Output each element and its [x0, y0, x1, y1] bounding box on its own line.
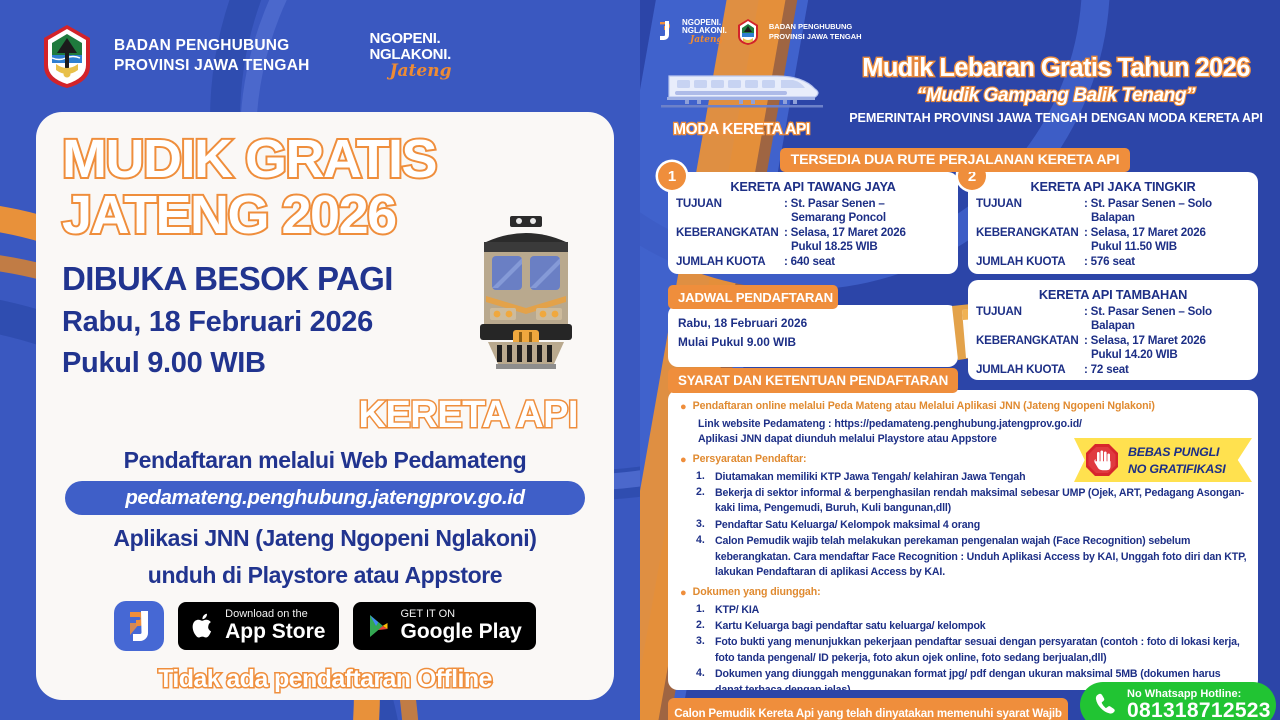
stop-hand-icon — [1084, 442, 1120, 478]
terms-bullet-2-text: Persyaratan Pendaftar: — [693, 452, 807, 469]
route-1-departure-row: KEBERANGKATAN : Selasa, 17 Maret 2026 Pu… — [668, 226, 958, 255]
requirement-4-text: Calon Pemudik wajib telah melakukan pere… — [715, 534, 1248, 580]
jawa-tengah-emblem-icon — [36, 22, 98, 90]
requirement-item-2: 2. Bekerja di sektor informal & berpengh… — [680, 486, 1248, 517]
jawa-tengah-emblem-mini-icon — [735, 18, 761, 46]
mini-ngopeni-line2: NGLAKONI. — [682, 27, 727, 35]
right-header: NGOPENI. NGLAKONI. Jateng BADAN PENGHUBU… — [640, 8, 1280, 138]
google-play-badge-large: Google Play — [400, 621, 521, 643]
mini-org-name: BADAN PENGHUBUNG PROVINSI JAWA TENGAH — [769, 22, 862, 42]
route-card-2: 2 KERETA API JAKA TINGKIR TUJUAN : St. P… — [968, 172, 1258, 274]
org-name-line1: BADAN PENGHUBUNG — [114, 36, 309, 56]
requirement-item-3: 3. Pendaftar Satu Keluarga/ Kelompok mak… — [680, 518, 1248, 533]
bullet-dot-icon: ● — [680, 585, 687, 602]
app-store-badge-large: App Store — [225, 621, 325, 643]
terms-card: ● Pendaftaran online melalui Peda Mateng… — [668, 390, 1258, 690]
google-play-badge-small: GET IT ON — [400, 609, 521, 620]
route-3-departure-value-line1: : Selasa, 17 Maret 2026 — [1084, 334, 1206, 347]
org-name-line2: PROVINSI JAWA TENGAH — [114, 56, 309, 76]
document-1-index: 1. — [696, 603, 710, 618]
requirement-3-index: 3. — [696, 518, 710, 533]
app-line-1: Aplikasi JNN (Jateng Ngopeni Nglakoni) — [62, 525, 588, 552]
app-store-badge[interactable]: Download on the App Store — [178, 602, 339, 650]
route-3-destination-row: TUJUAN : St. Pasar Senen – Solo Balapan — [968, 305, 1258, 334]
offline-registration-note: Tidak ada pendaftaran Offline — [36, 665, 614, 694]
route-2-destination-key: TUJUAN — [976, 197, 1084, 226]
google-play-icon — [367, 613, 391, 639]
route-3-departure-value-line2: Pukul 14.20 WIB — [1084, 348, 1250, 362]
right-title-subtitle: PEMERINTAH PROVINSI JAWA TENGAH DENGAN M… — [840, 111, 1272, 125]
route-2-departure-value-line1: : Selasa, 17 Maret 2026 — [1084, 226, 1206, 239]
left-main-card: MUDIK GRATIS JATENG 2026 — [36, 112, 614, 700]
bottom-notice-bar: Calon Pemudik Kereta Api yang telah diny… — [668, 698, 1068, 720]
route-2-quota-value: : 576 seat — [1084, 255, 1250, 269]
jadwal-card: Rabu, 18 Februari 2026 Mulai Pukul 9.00 … — [668, 305, 958, 367]
right-title-main: Mudik Lebaran Gratis Tahun 2026 — [840, 54, 1272, 83]
route-1-destination-value: : St. Pasar Senen – Semarang Poncol — [784, 197, 950, 226]
banner-routes: TERSEDIA DUA RUTE PERJALANAN KERETA API — [780, 148, 1130, 172]
route-3-quota-value: : 72 seat — [1084, 363, 1250, 377]
moda-kereta-block: MODA KERETA API — [654, 66, 829, 139]
org-name: BADAN PENGHUBUNG PROVINSI JAWA TENGAH — [114, 36, 309, 76]
bullet-dot-icon: ● — [680, 399, 687, 416]
ngopeni-line1: NGOPENI. — [369, 31, 465, 46]
terms-bullet-1: ● Pendaftaran online melalui Peda Mateng… — [680, 399, 1248, 416]
document-4-index: 4. — [696, 667, 710, 690]
app-store-badge-small: Download on the — [225, 609, 325, 620]
document-item-3: 3. Foto bukti yang menunjukkan pekerjaan… — [680, 635, 1248, 666]
anti-bribery-text: BEBAS PUNGLI NO GRATIFIKASI — [1128, 444, 1225, 477]
mini-ngopeni-logo: NGOPENI. NGLAKONI. Jateng — [682, 19, 727, 46]
phone-icon — [1090, 690, 1120, 720]
document-item-2: 2. Kartu Keluarga bagi pendaftar satu ke… — [680, 619, 1248, 634]
whatsapp-number: 081318712523 — [1127, 700, 1271, 720]
whatsapp-text-block: No Whatsapp Hotline: 081318712523 — [1127, 688, 1271, 720]
store-badges-row: Download on the App Store — [62, 601, 588, 651]
route-1-quota-key: JUMLAH KUOTA — [676, 255, 784, 269]
route-1-departure-value: : Selasa, 17 Maret 2026 Pukul 18.25 WIB — [784, 226, 950, 255]
ngopeni-line3: Jateng — [369, 61, 465, 81]
right-header-logos: NGOPENI. NGLAKONI. Jateng BADAN PENGHUBU… — [656, 18, 862, 46]
route-2-destination-value: : St. Pasar Senen – Solo Balapan — [1084, 197, 1250, 226]
mini-org-line1: BADAN PENGHUBUNG — [769, 22, 862, 32]
document-3-index: 3. — [696, 635, 710, 666]
route-1-destination-value-line2: Semarang Poncol — [784, 211, 950, 225]
route-3-quota-row: JUMLAH KUOTA : 72 seat — [968, 363, 1258, 377]
route-2-destination-row: TUJUAN : St. Pasar Senen – Solo Balapan — [968, 197, 1258, 226]
left-header: BADAN PENGHUBUNG PROVINSI JAWA TENGAH NG… — [0, 0, 640, 112]
route-card-1: 1 KERETA API TAWANG JAYA TUJUAN : St. Pa… — [668, 172, 958, 274]
side-train-illustration — [661, 66, 823, 114]
route-2-destination-value-line2: Balapan — [1084, 211, 1250, 225]
right-title-tagline: “Mudik Gampang Balik Tenang” — [840, 85, 1272, 107]
route-2-title: KERETA API JAKA TINGKIR — [968, 172, 1258, 197]
route-1-destination-value-line1: : St. Pasar Senen – — [784, 197, 885, 210]
anti-bribery-line2: NO GRATIFIKASI — [1128, 461, 1225, 478]
requirement-2-index: 2. — [696, 486, 710, 517]
registration-web-line: Pendaftaran melalui Web Pedamateng — [62, 447, 588, 474]
route-1-quota-row: JUMLAH KUOTA : 640 seat — [668, 255, 958, 269]
document-item-1: 1. KTP/ KIA — [680, 603, 1248, 618]
apple-icon — [192, 612, 216, 640]
route-3-destination-value-line1: : St. Pasar Senen – Solo — [1084, 305, 1212, 318]
route-3-destination-value: : St. Pasar Senen – Solo Balapan — [1084, 305, 1250, 334]
terms-bullet-3-text: Dokumen yang diunggah: — [693, 585, 821, 602]
route-card-tambahan: KERETA API TAMBAHAN TUJUAN : St. Pasar S… — [968, 280, 1258, 380]
jnn-app-icon[interactable] — [114, 601, 164, 651]
route-2-quota-row: JUMLAH KUOTA : 576 seat — [968, 255, 1258, 269]
banner-syarat: SYARAT DAN KETENTUAN PENDAFTARAN — [668, 368, 958, 393]
document-2-index: 2. — [696, 619, 710, 634]
google-play-badge[interactable]: GET IT ON Google Play — [353, 602, 535, 650]
requirement-2-text: Bekerja di sektor informal & berpenghasi… — [715, 486, 1248, 517]
poster-root: BADAN PENGHUBUNG PROVINSI JAWA TENGAH NG… — [0, 0, 1280, 720]
route-1-destination-row: TUJUAN : St. Pasar Senen – Semarang Ponc… — [668, 197, 958, 226]
registration-url[interactable]: pedamateng.penghubung.jatengprov.go.id — [65, 481, 585, 515]
anti-bribery-line1: BEBAS PUNGLI — [1128, 444, 1225, 461]
bullet-dot-icon: ● — [680, 452, 687, 469]
mini-ngopeni-line3: Jateng — [682, 35, 727, 45]
document-3-text: Foto bukti yang menunjukkan pekerjaan pe… — [715, 635, 1248, 666]
moda-kereta-label: MODA KERETA API — [654, 121, 829, 139]
route-1-quota-value: : 640 seat — [784, 255, 950, 269]
route-3-departure-row: KEBERANGKATAN : Selasa, 17 Maret 2026 Pu… — [968, 334, 1258, 363]
jnn-logo-glyph — [114, 601, 164, 651]
jadwal-time: Mulai Pukul 9.00 WIB — [668, 333, 958, 352]
route-2-destination-value-line1: : St. Pasar Senen – Solo — [1084, 197, 1212, 210]
route-2-departure-value: : Selasa, 17 Maret 2026 Pukul 11.50 WIB — [1084, 226, 1250, 255]
left-panel: BADAN PENGHUBUNG PROVINSI JAWA TENGAH NG… — [0, 0, 640, 720]
requirement-4-index: 4. — [696, 534, 710, 580]
document-2-text: Kartu Keluarga bagi pendaftar satu kelua… — [715, 619, 1248, 634]
jnn-mini-logo-icon — [656, 19, 674, 45]
anti-bribery-badge: BEBAS PUNGLI NO GRATIFIKASI — [1074, 438, 1252, 482]
mini-org-line2: PROVINSI JAWA TENGAH — [769, 32, 862, 42]
route-1-departure-value-line1: : Selasa, 17 Maret 2026 — [784, 226, 906, 239]
route-1-destination-key: TUJUAN — [676, 197, 784, 226]
route-3-departure-value: : Selasa, 17 Maret 2026 Pukul 14.20 WIB — [1084, 334, 1250, 363]
route-2-departure-value-line2: Pukul 11.50 WIB — [1084, 240, 1250, 254]
right-title-block: Mudik Lebaran Gratis Tahun 2026 “Mudik G… — [840, 54, 1272, 125]
jadwal-date: Rabu, 18 Februari 2026 — [668, 305, 958, 333]
transport-mode-word: KERETA API — [62, 394, 588, 437]
route-3-title: KERETA API TAMBAHAN — [968, 280, 1258, 305]
train-front-illustration — [466, 212, 586, 372]
whatsapp-hotline[interactable]: No Whatsapp Hotline: 081318712523 — [1080, 682, 1276, 720]
route-3-quota-key: JUMLAH KUOTA — [976, 363, 1084, 377]
ngopeni-nglakoni-logo: NGOPENI. NGLAKONI. Jateng — [369, 31, 465, 81]
route-1-departure-key: KEBERANGKATAN — [676, 226, 784, 255]
document-1-text: KTP/ KIA — [715, 603, 1248, 618]
requirement-3-text: Pendaftar Satu Keluarga/ Kelompok maksim… — [715, 518, 1248, 533]
route-1-title: KERETA API TAWANG JAYA — [668, 172, 958, 197]
terms-bullet-3: ● Dokumen yang diunggah: — [680, 585, 1248, 602]
route-2-quota-key: JUMLAH KUOTA — [976, 255, 1084, 269]
requirement-item-4: 4. Calon Pemudik wajib telah melakukan p… — [680, 534, 1248, 580]
banner-jadwal: JADWAL PENDAFTARAN — [668, 285, 838, 309]
route-1-departure-value-line2: Pukul 18.25 WIB — [784, 240, 950, 254]
route-3-destination-key: TUJUAN — [976, 305, 1084, 334]
route-2-departure-row: KEBERANGKATAN : Selasa, 17 Maret 2026 Pu… — [968, 226, 1258, 255]
terms-bullet-1-text: Pendaftaran online melalui Peda Mateng a… — [693, 399, 1155, 416]
ngopeni-line2: NGLAKONI. — [369, 47, 465, 62]
right-panel: NGOPENI. NGLAKONI. Jateng BADAN PENGHUBU… — [640, 0, 1280, 720]
terms-bullet-1-sub1: Link website Pedamateng : https://pedama… — [680, 417, 1248, 432]
headline-line1: MUDIK GRATIS — [62, 134, 588, 186]
requirement-1-index: 1. — [696, 470, 710, 485]
route-3-departure-key: KEBERANGKATAN — [976, 334, 1084, 363]
app-line-2: unduh di Playstore atau Appstore — [62, 562, 588, 589]
route-1-number: 1 — [658, 162, 686, 190]
route-2-departure-key: KEBERANGKATAN — [976, 226, 1084, 255]
route-3-destination-value-line2: Balapan — [1084, 319, 1250, 333]
